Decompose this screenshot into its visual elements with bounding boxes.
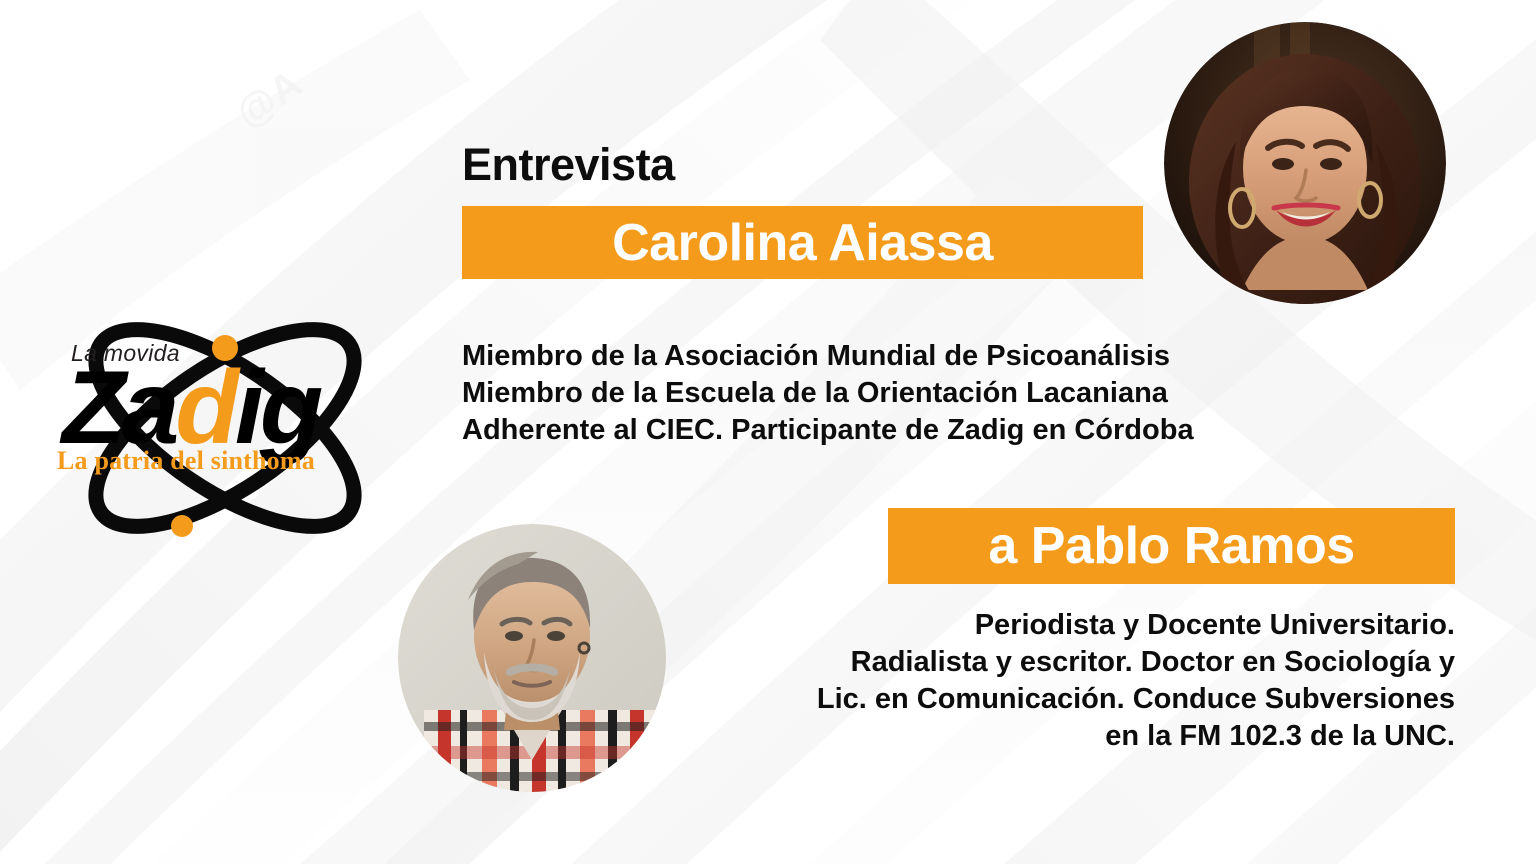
guest-photo-carolina-aiassa bbox=[1164, 22, 1446, 304]
guest-name-label: Carolina Aiassa bbox=[612, 217, 993, 269]
guest-credential-line: Miembro de la Escuela de la Orientación … bbox=[462, 375, 1194, 412]
portrait-carolina bbox=[1164, 22, 1446, 304]
logo-wordmark: Zadig bbox=[62, 356, 319, 460]
eyebrow-label: Entrevista bbox=[462, 142, 675, 187]
interviewee-credentials: Periodista y Docente Universitario. Radi… bbox=[817, 607, 1455, 755]
orbit-dot-bottom bbox=[171, 515, 193, 537]
interviewee-credential-line: Lic. en Comunicación. Conduce Subversion… bbox=[817, 681, 1455, 718]
zadig-logo: La movida Zadig La patria del sinthoma bbox=[40, 288, 410, 568]
guest-name-bar: Carolina Aiassa bbox=[462, 206, 1143, 279]
guest-credentials: Miembro de la Asociación Mundial de Psic… bbox=[462, 338, 1194, 449]
interviewee-photo-pablo-ramos bbox=[398, 524, 666, 792]
logo-tagline-bottom: La patria del sinthoma bbox=[57, 446, 315, 476]
guest-credential-line: Miembro de la Asociación Mundial de Psic… bbox=[462, 338, 1194, 375]
interviewee-credential-line: en la FM 102.3 de la UNC. bbox=[817, 718, 1455, 755]
portrait-pablo bbox=[398, 524, 666, 792]
interview-flyer: @A La movida Zadig La patria del sinthom… bbox=[0, 0, 1536, 864]
interviewee-credential-line: Periodista y Docente Universitario. bbox=[817, 607, 1455, 644]
interviewee-credential-line: Radialista y escritor. Doctor en Sociolo… bbox=[817, 644, 1455, 681]
guest-credential-line: Adherente al CIEC. Participante de Zadig… bbox=[462, 412, 1194, 449]
interviewee-name-label: a Pablo Ramos bbox=[988, 520, 1354, 572]
interviewee-name-bar: a Pablo Ramos bbox=[888, 508, 1455, 584]
